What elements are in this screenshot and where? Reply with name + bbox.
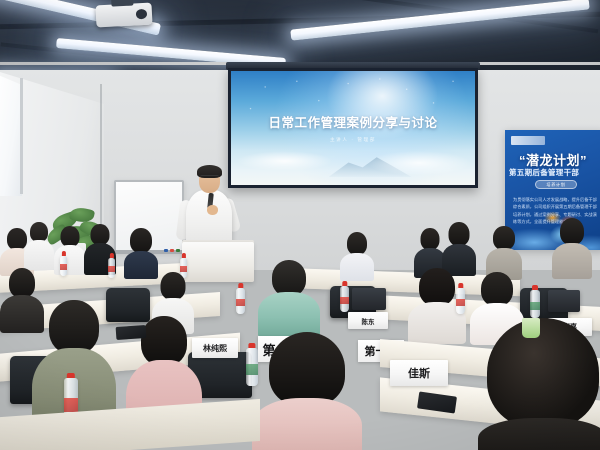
attendee-head (481, 272, 513, 306)
banner-subtitle: 第五期后备管理干部 (509, 167, 600, 178)
attendee (252, 332, 362, 450)
water-bottle (108, 258, 115, 278)
attendee (124, 228, 158, 276)
attendee-head (49, 300, 99, 354)
bottle-label (64, 398, 78, 411)
water-bottle (340, 286, 349, 312)
attendee-head (161, 272, 186, 300)
bottle-label (236, 299, 245, 306)
attendee-head (493, 226, 515, 250)
attendee-torso (478, 418, 600, 450)
attendee (24, 222, 54, 270)
name-card: 陈东 (348, 312, 388, 329)
water-bottle (236, 288, 245, 314)
bottle-label (530, 302, 540, 310)
attendee (54, 226, 86, 274)
slide-cloud (236, 151, 334, 171)
name-card: 林纯熙 (192, 338, 238, 358)
green-cup (522, 318, 540, 338)
water-bottle (530, 290, 540, 318)
attendee-torso (24, 240, 54, 270)
banner-pill-label: 培养计划 (536, 182, 576, 188)
attendee-head (30, 222, 48, 242)
attendee-head (91, 224, 110, 245)
laptop[interactable] (352, 288, 386, 310)
attendee (486, 226, 522, 278)
attendee (340, 232, 374, 278)
laptop[interactable] (548, 290, 580, 312)
attendee-head (9, 268, 35, 298)
attendee-torso (552, 243, 592, 279)
name-card-text: 陈东 (362, 316, 375, 326)
attendee-head (419, 268, 455, 306)
attendee-head (487, 318, 599, 428)
marker-pen (164, 249, 168, 252)
bottle-label (108, 266, 115, 272)
meeting-room-photo: 日常工作管理案例分享与讨论 主讲人 · 管理部 “潜龙计划” 第五期后备管理干部… (0, 0, 600, 450)
attendee-head (130, 228, 152, 253)
water-bottle (60, 256, 67, 276)
attendee-head (272, 260, 306, 296)
slide-subtitle: 主讲人 · 管理部 (231, 137, 475, 143)
bottle-label (340, 297, 349, 304)
attendee (258, 260, 320, 334)
marker-pen (176, 249, 180, 252)
window (0, 74, 22, 196)
banner-pill: 培养计划 (535, 180, 577, 189)
attendee-head (560, 218, 584, 245)
smartphone[interactable] (116, 325, 147, 340)
name-card: 佳斯 (390, 360, 448, 386)
water-bottle (456, 288, 465, 314)
marker-pen (170, 249, 174, 252)
slide-cloud (368, 151, 470, 175)
presenter-hand (207, 205, 218, 215)
bottle-label (456, 299, 465, 306)
attendee-head (449, 222, 470, 246)
window-frame (20, 78, 23, 194)
ceiling-projector (95, 3, 152, 28)
attendee-head (269, 332, 345, 406)
attendee (442, 222, 476, 274)
attendee (552, 218, 592, 276)
attendee-head (421, 228, 440, 250)
attendee-head (347, 232, 367, 255)
slide-title: 日常工作管理案例分享与讨论 (231, 112, 475, 131)
attendee-torso (54, 245, 86, 275)
attendee (478, 318, 600, 450)
projection-screen: 日常工作管理案例分享与讨论 主讲人 · 管理部 (228, 68, 478, 188)
company-logo (511, 136, 545, 145)
bottle-label (60, 264, 67, 270)
attendee-torso (252, 398, 362, 450)
attendee-head (61, 226, 80, 247)
attendee-head (141, 316, 187, 366)
attendee-torso (340, 253, 374, 281)
glasses-icon (200, 175, 219, 179)
name-card-text: 林纯熙 (203, 343, 227, 354)
presentation-slide: 日常工作管理案例分享与讨论 主讲人 · 管理部 (231, 71, 475, 185)
name-card-text: 佳斯 (408, 365, 430, 381)
projector-lens-icon (136, 9, 148, 20)
